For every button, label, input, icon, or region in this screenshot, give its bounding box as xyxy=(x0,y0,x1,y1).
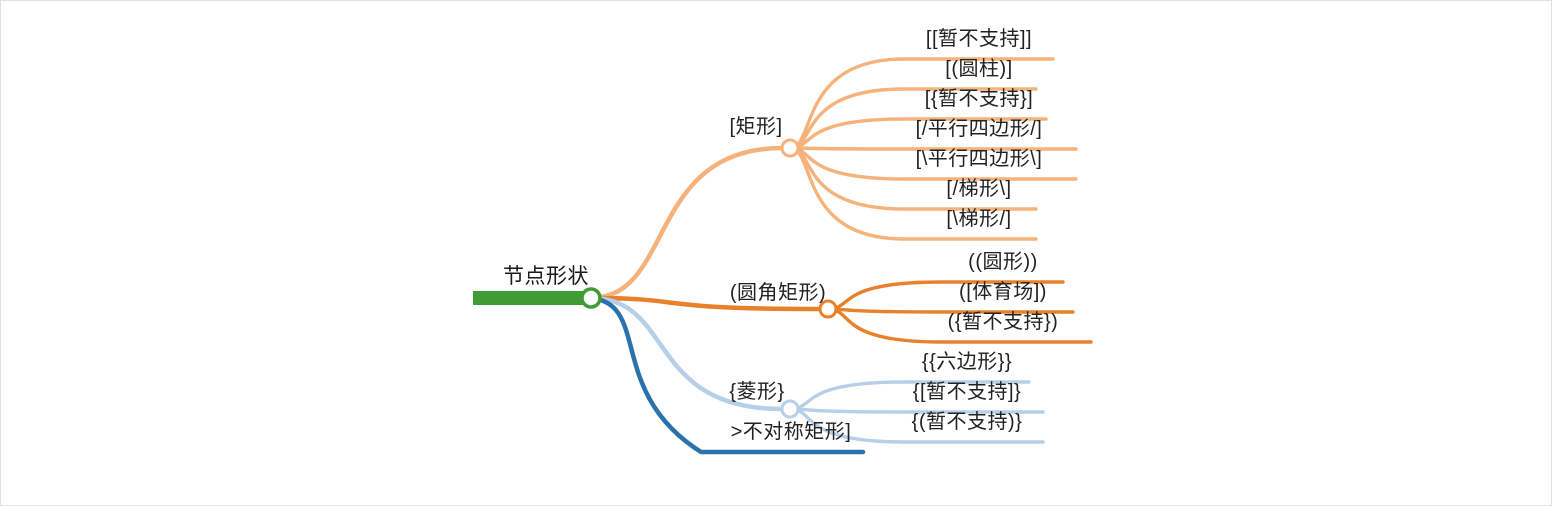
branch-label-asym[interactable]: >不对称矩形] xyxy=(731,422,852,442)
branch-node-diamond[interactable] xyxy=(782,401,798,417)
leaf-label-rect-4[interactable]: [\平行四边形\] xyxy=(916,149,1043,169)
leaf-label-rect-1[interactable]: [(圆柱)] xyxy=(945,59,1012,79)
leaf-label-rect-5[interactable]: [/梯形\] xyxy=(946,179,1011,199)
root-bar xyxy=(473,291,591,305)
leaf-label-diamond-2[interactable]: {(暂不支持)} xyxy=(912,412,1023,432)
leaf-label-rect-2[interactable]: [{暂不支持}] xyxy=(925,89,1033,109)
mindmap-canvas: 节点形状[矩形][[暂不支持]][(圆柱)][{暂不支持}][/平行四边形/][… xyxy=(0,0,1552,506)
leaf-label-roundrect-2[interactable]: ({暂不支持}) xyxy=(948,312,1059,332)
branch-label-rect[interactable]: [矩形] xyxy=(729,117,782,137)
branch-label-roundrect[interactable]: (圆角矩形) xyxy=(730,283,826,303)
leaf-label-rect-0[interactable]: [[暂不支持]] xyxy=(926,29,1032,49)
leaf-label-roundrect-1[interactable]: ([体育场]) xyxy=(959,282,1047,302)
root-label[interactable]: 节点形状 xyxy=(503,267,589,287)
branch-label-diamond[interactable]: {菱形} xyxy=(729,382,784,402)
leaf-label-rect-3[interactable]: [/平行四边形/] xyxy=(916,119,1043,139)
leaf-label-diamond-0[interactable]: {{六边形}} xyxy=(922,352,1012,372)
root-node[interactable] xyxy=(582,289,600,307)
leaf-label-diamond-1[interactable]: {[暂不支持]} xyxy=(913,382,1021,402)
leaf-label-roundrect-0[interactable]: ((圆形)) xyxy=(968,252,1038,272)
branch-node-rect[interactable] xyxy=(782,140,798,156)
leaf-label-rect-6[interactable]: [\梯形/] xyxy=(946,209,1011,229)
branch-trunk-rect xyxy=(591,148,782,298)
